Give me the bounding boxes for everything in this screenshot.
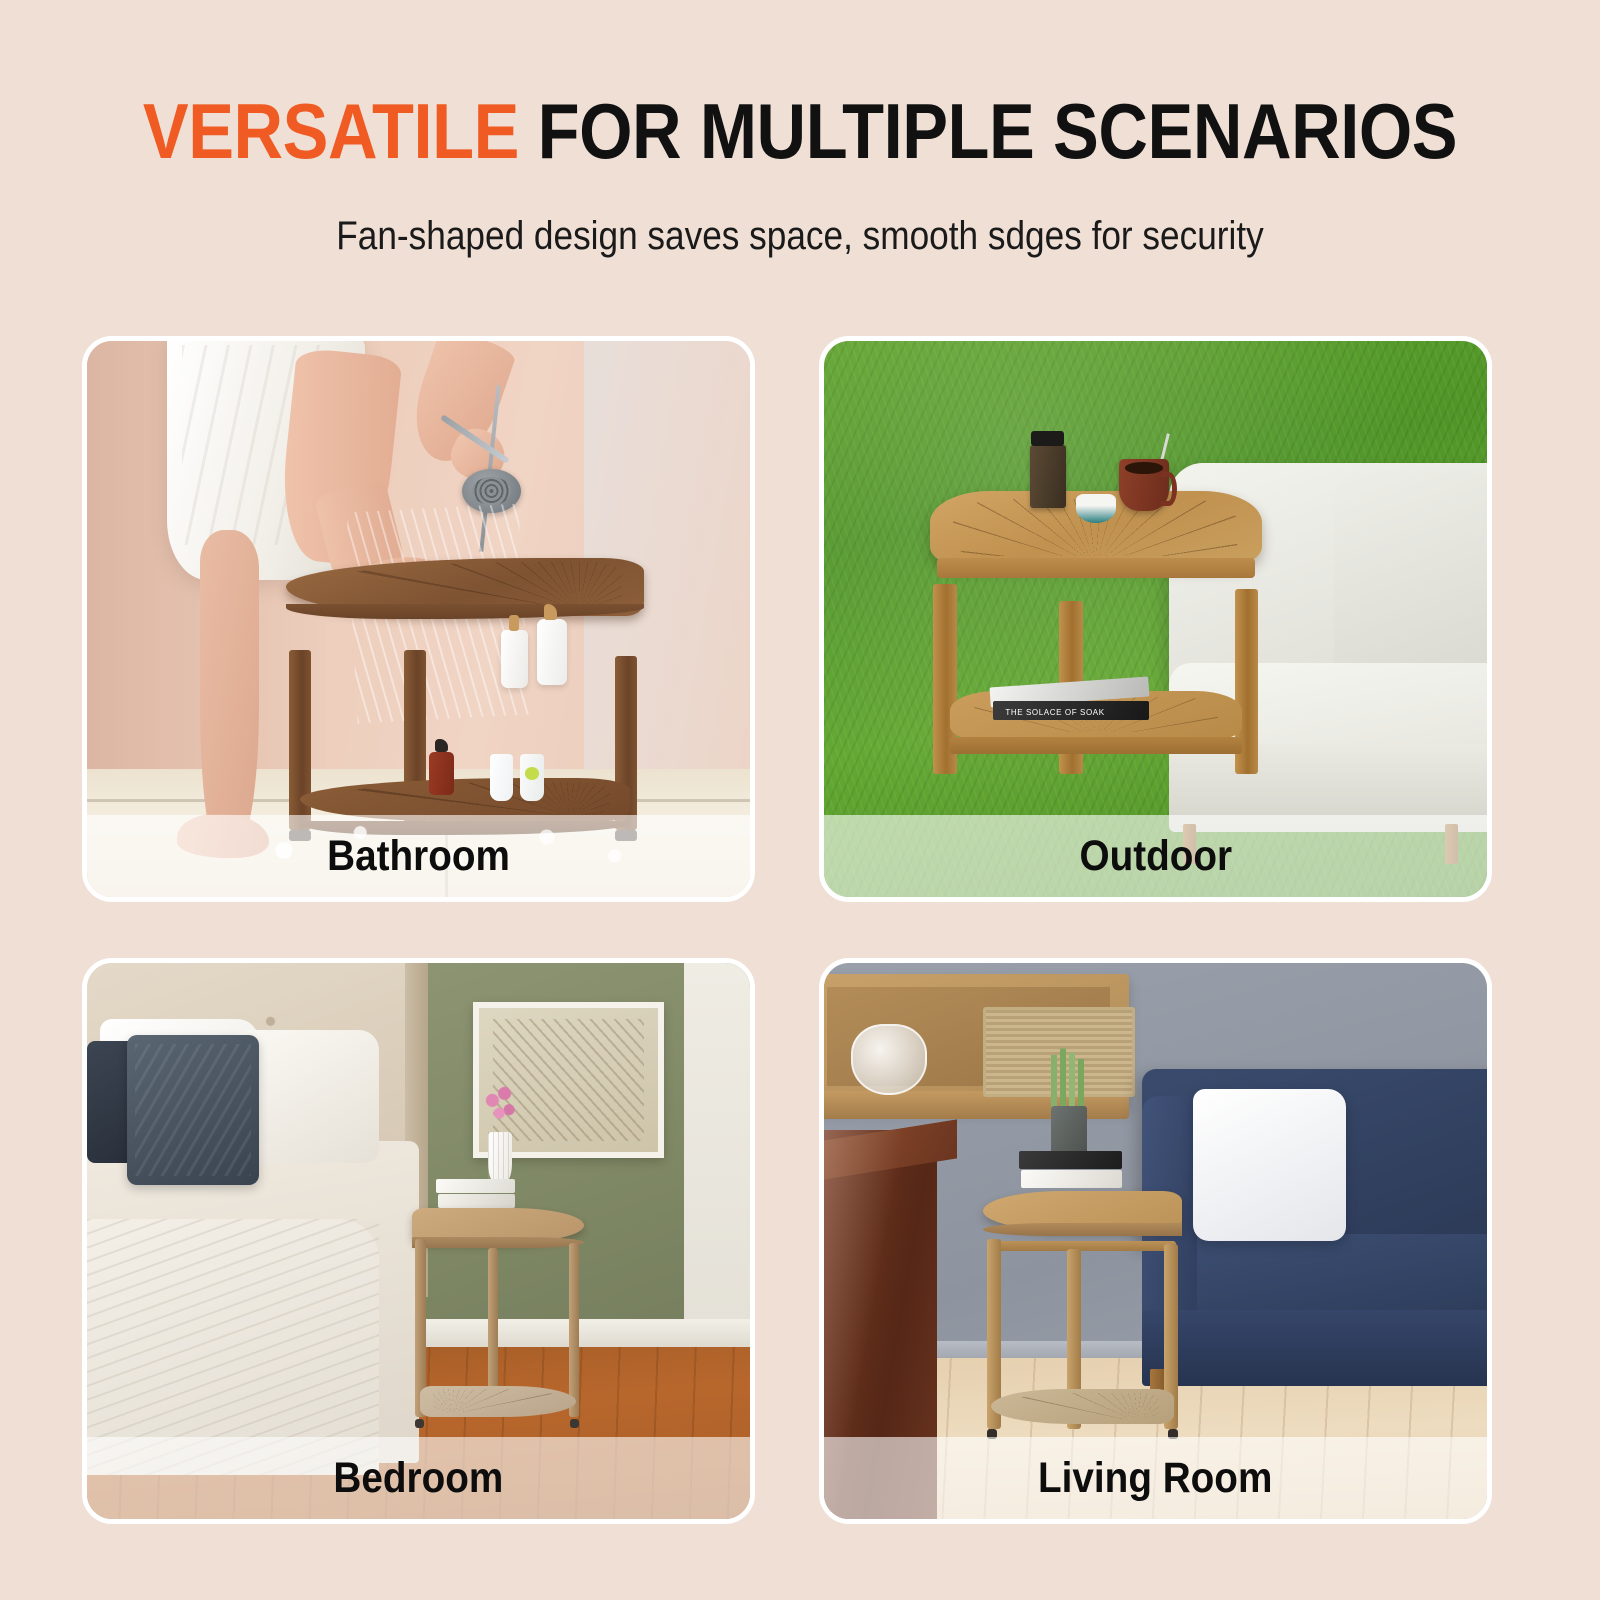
white-cushion [1193,1089,1346,1241]
table-top-edge [983,1223,1182,1236]
book-lower: THE SOLACE OF SOAK [993,701,1149,720]
sofa-back-cushion [1334,471,1487,687]
living-room-caption-band: Living Room [824,1437,1487,1519]
face-wash-tube [490,754,513,800]
book-title-text: THE SOLACE OF SOAK [1005,708,1104,717]
sugar-bowl [1076,494,1116,523]
scenario-card-living-room[interactable]: Living Room [819,958,1492,1524]
glass-teapot [851,1024,928,1095]
book-lower [438,1194,515,1208]
nightstand-lower-shelf [420,1386,575,1417]
plant-pot [1051,1106,1087,1156]
scenario-card-bedroom[interactable]: Bedroom [82,958,755,1524]
caption-bedroom: Bedroom [334,1454,504,1503]
book-stack [1019,1151,1122,1189]
living-room-scene-image [824,963,1487,1519]
book-stack: THE SOLACE OF SOAK [990,682,1149,720]
book-upper [436,1179,515,1193]
scenario-card-outdoor[interactable]: THE SOLACE OF SOAK Outdoor [819,336,1492,902]
title-accent-word: VERSATILE [143,87,519,175]
bedroom-scene-image [87,963,750,1519]
table-lower-shelf-lip [950,737,1242,754]
scenario-card-bathroom[interactable]: Bathroom [82,336,755,902]
amber-soap-bottle [429,752,454,795]
navy-sofa [1142,1069,1487,1414]
living-room-side-table [983,1191,1182,1441]
bathroom-scene-image [87,341,750,897]
caption-outdoor: Outdoor [1079,832,1232,881]
outdoor-scene-image: THE SOLACE OF SOAK [824,341,1487,897]
bench-top-edge [286,604,644,618]
table-apron [989,1241,1176,1251]
flower-vase [488,1132,512,1185]
title-rest: FOR MULTIPLE SCENARIOS [538,87,1458,175]
nightstand-foot-right [570,1419,579,1428]
succulent-plant [1047,1046,1091,1111]
pump-bottle [501,630,528,688]
coffee-jar [1030,445,1066,509]
nightstand-leg-right [569,1243,579,1416]
book-lower [1021,1170,1122,1189]
page-subtitle: Fan-shaped design saves space, smooth sd… [96,214,1504,259]
book-stack [436,1179,515,1208]
coffee-mug [1119,459,1169,511]
table-apron [937,558,1255,578]
nightstand-top-edge [412,1237,584,1248]
outdoor-caption-band: Outdoor [824,815,1487,897]
table-lower-shelf [991,1389,1174,1424]
book-upper [1019,1151,1122,1169]
nightstand-foot-left [415,1419,424,1428]
scenario-card-grid: Bathroom [82,336,1518,1522]
coffee-liquid [1125,462,1163,473]
bathroom-caption-band: Bathroom [87,815,750,897]
navy-pillow-front [127,1035,260,1185]
outdoor-side-table: THE SOLACE OF SOAK [930,491,1262,780]
caption-bathroom: Bathroom [327,832,510,881]
half-round-nightstand [412,1208,584,1430]
caption-living-room: Living Room [1038,1454,1272,1503]
bedroom-caption-band: Bedroom [87,1437,750,1519]
lotion-bottle [537,619,567,685]
page-title: VERSATILE FOR MULTIPLE SCENARIOS [96,92,1504,170]
sofa-skirt [1142,1310,1487,1386]
header: VERSATILE FOR MULTIPLE SCENARIOS Fan-sha… [0,0,1600,259]
green-label-tube [520,754,543,800]
